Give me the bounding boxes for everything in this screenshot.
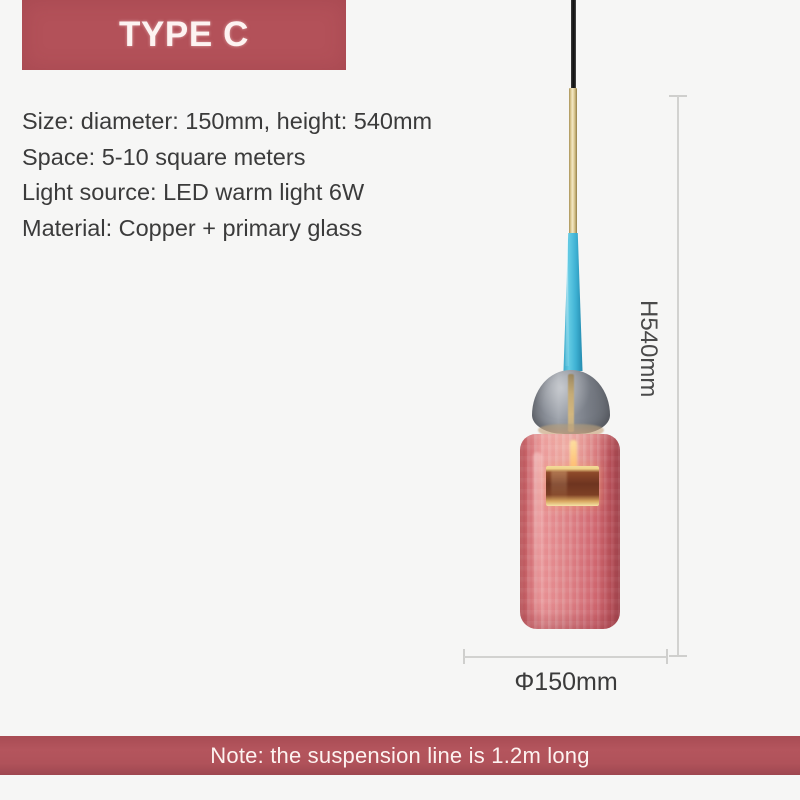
note-bar-label: Note: the suspension line is 1.2m long xyxy=(0,743,800,769)
brass-rod xyxy=(569,88,577,236)
suspension-cord xyxy=(571,0,576,90)
height-dimension-cap-bottom xyxy=(669,655,687,657)
teal-glass-stem xyxy=(556,233,590,371)
product-spec-image: TYPE C Size: diameter: 150mm, height: 54… xyxy=(0,0,800,800)
diameter-dimension-line xyxy=(464,656,668,658)
diameter-dimension-label: Φ150mm xyxy=(464,668,668,697)
diameter-dimension-cap-right xyxy=(666,649,668,664)
note-bar: Note: the suspension line is 1.2m long xyxy=(0,736,800,775)
pendant-lamp-illustration xyxy=(0,0,800,730)
led-module-highlight xyxy=(551,471,567,501)
pink-glass-highlight xyxy=(533,452,542,612)
height-dimension-line xyxy=(677,96,679,656)
height-dimension-label: H540mm xyxy=(634,300,662,397)
